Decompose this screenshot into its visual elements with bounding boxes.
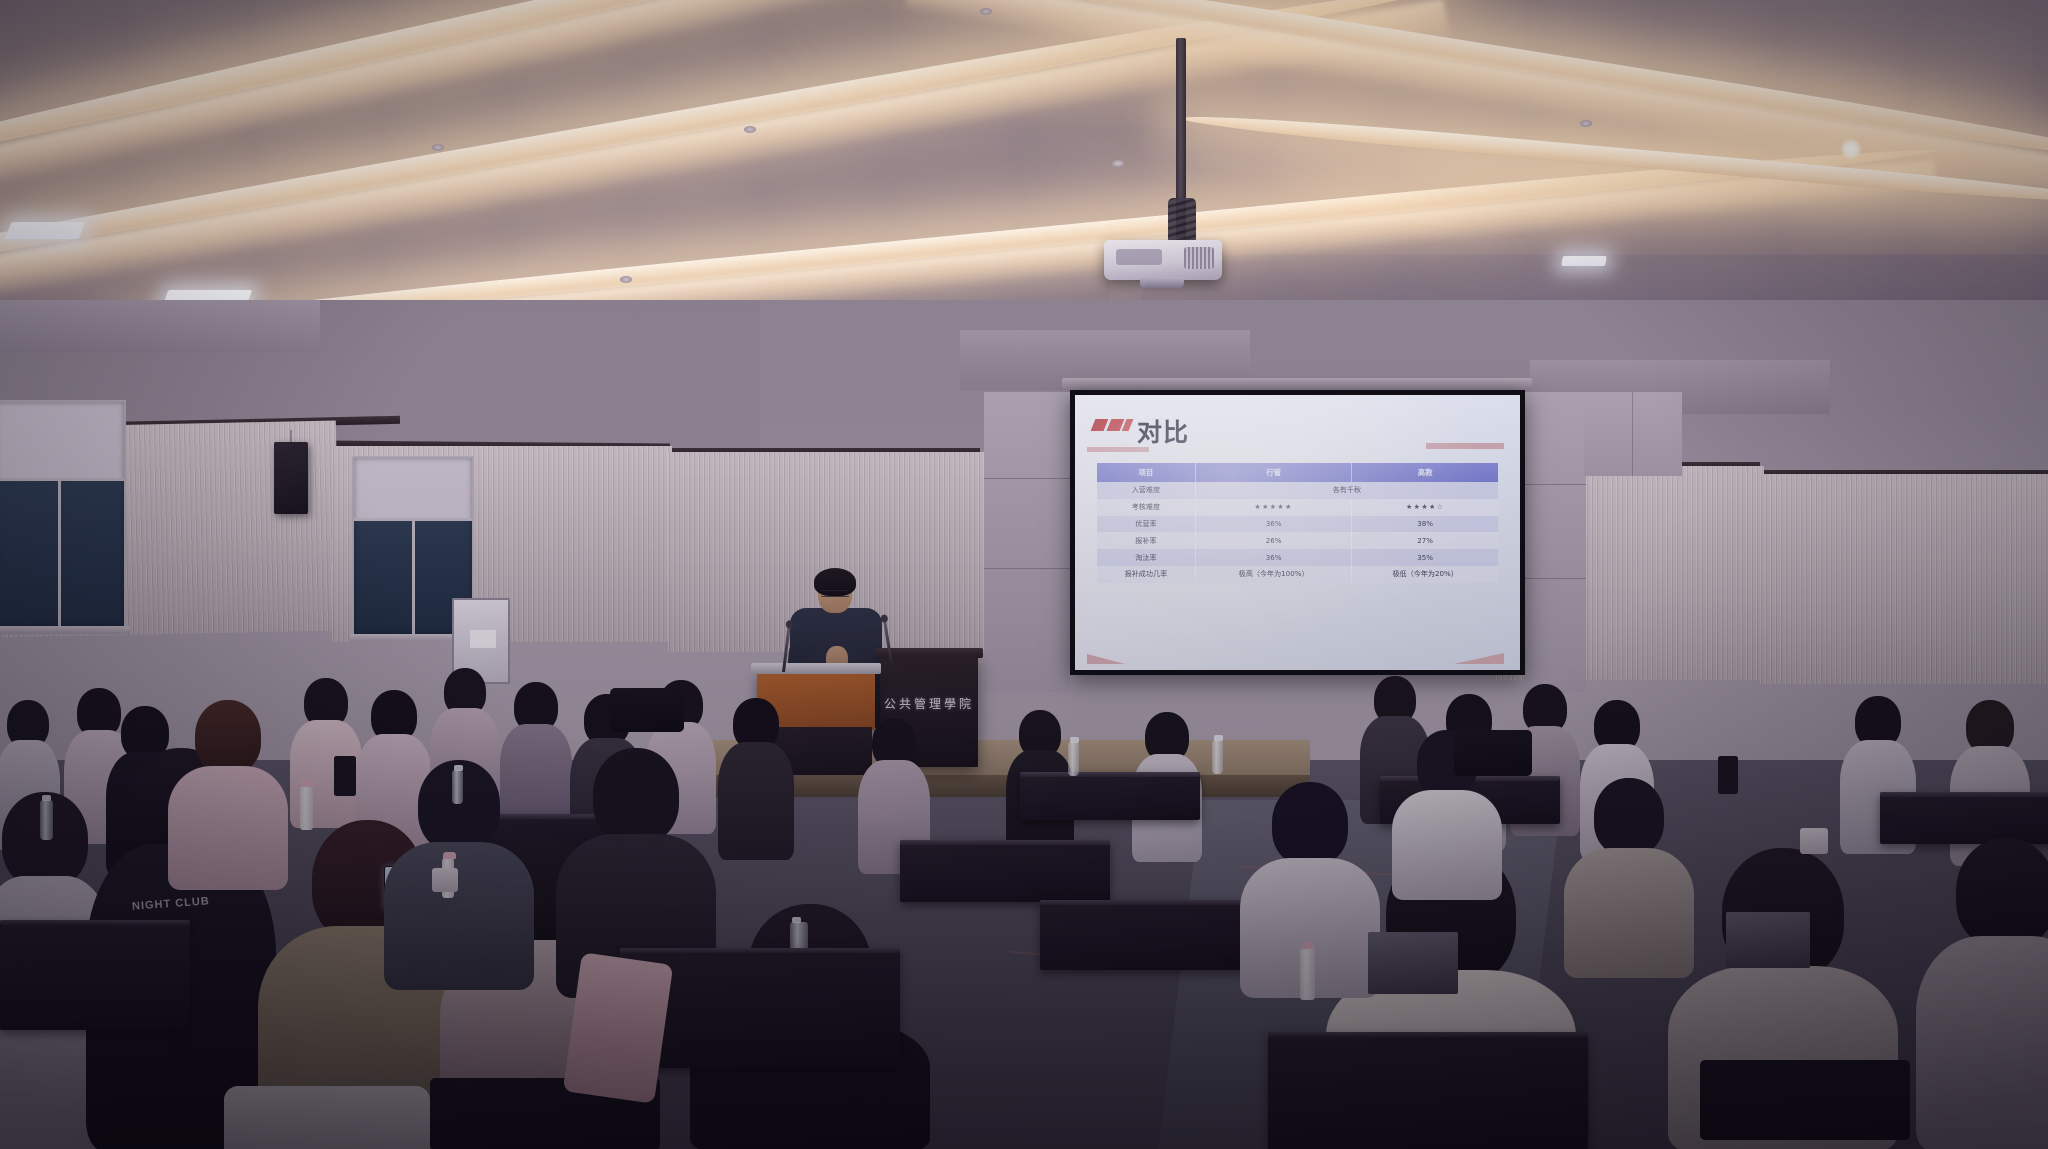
slide-rule-right bbox=[1426, 443, 1504, 449]
thermos-flask[interactable] bbox=[1300, 948, 1315, 1000]
column-header-gaojiao: 高教 bbox=[1352, 463, 1498, 482]
wall-panel-section bbox=[984, 392, 1070, 692]
row-value-a: 36% bbox=[1195, 549, 1352, 566]
slide-title: 对比 bbox=[1137, 413, 1189, 449]
row-value-a: 极高（今年为100%） bbox=[1195, 566, 1352, 583]
desk bbox=[1040, 900, 1270, 970]
downlight bbox=[620, 276, 632, 283]
wall-speaker bbox=[274, 442, 308, 514]
laptop[interactable] bbox=[1368, 932, 1458, 994]
lecture-hall-photo: 对比 项目 行管 高教 入营难度 各有千秋 考核 bbox=[0, 0, 2048, 1149]
laptop[interactable] bbox=[1726, 912, 1810, 968]
row-value-b: 27% bbox=[1352, 532, 1498, 549]
row-value-b: ★★★★☆ bbox=[1352, 499, 1498, 516]
scarf bbox=[563, 952, 674, 1103]
soffit bbox=[0, 300, 320, 352]
table-row: 入营难度 各有千秋 bbox=[1097, 482, 1498, 499]
mug[interactable] bbox=[432, 868, 458, 892]
table-header-row: 项目 行管 高教 bbox=[1097, 463, 1498, 482]
slide-content: 对比 项目 行管 高教 入营难度 各有千秋 考核 bbox=[1075, 395, 1520, 670]
row-merged-value: 各有千秋 bbox=[1195, 482, 1498, 499]
smartphone[interactable] bbox=[334, 756, 356, 796]
chair-back bbox=[610, 688, 684, 732]
audience-member-foreground bbox=[168, 700, 288, 890]
audience-member-foreground bbox=[1916, 838, 2048, 1149]
torso bbox=[1916, 936, 2048, 1149]
podium-top-surface bbox=[751, 663, 881, 674]
projection-screen: 对比 项目 行管 高教 入营难度 各有千秋 考核 bbox=[1070, 390, 1525, 675]
table-row: 报补率 26% 27% bbox=[1097, 532, 1498, 549]
downlight bbox=[1580, 120, 1592, 127]
row-value-a: 36% bbox=[1195, 516, 1352, 533]
slide-accent-mark bbox=[1091, 419, 1134, 431]
downlight bbox=[432, 144, 444, 151]
glasses-icon bbox=[820, 590, 850, 597]
downlight bbox=[744, 126, 756, 133]
bag-on-chair bbox=[224, 1086, 430, 1149]
audience-member bbox=[718, 698, 794, 858]
desk bbox=[1880, 792, 2048, 844]
whiteboard-note bbox=[470, 630, 496, 648]
torso bbox=[1564, 848, 1694, 978]
torso-pink bbox=[168, 766, 288, 890]
head bbox=[1272, 782, 1348, 866]
projector-lens bbox=[1140, 277, 1184, 288]
slide-rule-left bbox=[1087, 447, 1149, 452]
row-label: 报补率 bbox=[1097, 532, 1195, 549]
water-bottle[interactable] bbox=[452, 770, 463, 804]
slide-corner-accent-right bbox=[1454, 653, 1504, 664]
desk bbox=[1020, 772, 1200, 820]
slide-corner-accent-left bbox=[1087, 654, 1125, 664]
wall-panel-section bbox=[1584, 392, 1682, 476]
downlight bbox=[1112, 160, 1124, 167]
ceiling-panel-light bbox=[5, 222, 86, 239]
row-value-b: 35% bbox=[1352, 549, 1498, 566]
water-bottle[interactable] bbox=[1068, 742, 1079, 776]
ceiling-panel-light bbox=[1561, 256, 1607, 266]
water-bottle[interactable] bbox=[1212, 740, 1223, 774]
water-bottle[interactable] bbox=[40, 800, 53, 840]
projector bbox=[1104, 240, 1222, 280]
row-value-a: ★★★★★ bbox=[1195, 499, 1352, 516]
downlight-bright bbox=[1840, 138, 1862, 160]
screen-housing bbox=[1062, 378, 1532, 390]
projector-cables bbox=[1168, 198, 1196, 244]
wall-panel-section bbox=[1524, 392, 1586, 692]
head bbox=[195, 700, 261, 774]
desk-foreground bbox=[1268, 1032, 1588, 1149]
row-label: 报补成功几率 bbox=[1097, 566, 1195, 583]
audience-member bbox=[1564, 778, 1694, 978]
head bbox=[1956, 838, 2048, 948]
row-value-b: 极低（今年为20%） bbox=[1352, 566, 1498, 583]
torso bbox=[718, 742, 794, 860]
torso bbox=[384, 842, 534, 990]
column-header-xingguan: 行管 bbox=[1195, 463, 1352, 482]
table-row: 报补成功几率 极高（今年为100%） 极低（今年为20%） bbox=[1097, 566, 1498, 583]
table-row: 淘汰率 36% 35% bbox=[1097, 549, 1498, 566]
smartphone[interactable] bbox=[1718, 756, 1738, 794]
table-row: 优营率 36% 38% bbox=[1097, 516, 1498, 533]
torso bbox=[1392, 790, 1502, 900]
table-row: 考核难度 ★★★★★ ★★★★☆ bbox=[1097, 499, 1498, 516]
thermos-flask[interactable] bbox=[300, 786, 313, 830]
downlight bbox=[980, 8, 992, 15]
row-label: 考核难度 bbox=[1097, 499, 1195, 516]
row-value-a: 26% bbox=[1195, 532, 1352, 549]
lectern-sign: 公共管理學院 bbox=[880, 695, 978, 712]
window-left-far bbox=[0, 400, 126, 628]
row-label: 入营难度 bbox=[1097, 482, 1195, 499]
acoustic-panel-wall bbox=[1760, 474, 2048, 684]
desk-foreground bbox=[0, 920, 190, 1030]
row-value-b: 38% bbox=[1352, 516, 1498, 533]
head bbox=[593, 748, 679, 844]
desk bbox=[900, 840, 1110, 902]
row-label: 淘汰率 bbox=[1097, 549, 1195, 566]
chair-back bbox=[1700, 1060, 1910, 1140]
chair-back bbox=[1454, 730, 1532, 776]
comparison-table: 项目 行管 高教 入营难度 各有千秋 考核难度 ★★★★★ ★★★★☆ bbox=[1097, 463, 1498, 583]
column-header-item: 项目 bbox=[1097, 463, 1195, 482]
ceiling bbox=[0, 0, 2048, 330]
head bbox=[1594, 778, 1664, 856]
row-label: 优营率 bbox=[1097, 516, 1195, 533]
mug[interactable] bbox=[1800, 828, 1828, 854]
